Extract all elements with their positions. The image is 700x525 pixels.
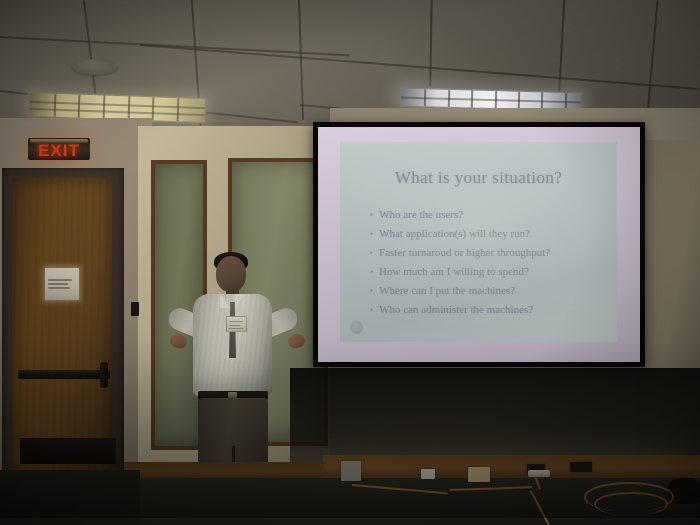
slide-logo-icon bbox=[350, 321, 363, 334]
presenter-head bbox=[216, 256, 246, 292]
exit-sign-hood bbox=[30, 139, 88, 143]
slide-bullet: Who can administer the machines? bbox=[370, 305, 607, 316]
slide-title: What is your situation? bbox=[340, 168, 617, 188]
door-frame bbox=[2, 168, 124, 480]
presenter-hand-left bbox=[168, 332, 188, 351]
door[interactable] bbox=[12, 178, 112, 476]
presenter-collar-left bbox=[220, 294, 230, 308]
power-strip[interactable] bbox=[528, 470, 550, 477]
door-wood-grain bbox=[12, 178, 112, 476]
slide-bullet: Who are the users? bbox=[370, 210, 607, 221]
under-screen-shadow bbox=[290, 368, 700, 468]
conference-room-photo: EXIT What is your situation? Who are the… bbox=[0, 0, 700, 525]
cord-loop-2 bbox=[594, 492, 668, 516]
wall-plate-blank bbox=[468, 467, 490, 482]
wall-outlet-1[interactable] bbox=[421, 469, 435, 479]
light-switch[interactable] bbox=[131, 302, 139, 316]
smoke-detector bbox=[72, 59, 118, 75]
slide-bullet: What application(s) will they run? bbox=[370, 229, 607, 240]
slide-bullet-list: Who are the users? What application(s) w… bbox=[370, 210, 607, 324]
floor-carpet-left bbox=[0, 470, 140, 525]
door-kick-plate bbox=[20, 438, 116, 464]
door-push-bar[interactable] bbox=[18, 370, 110, 379]
wall-data-port[interactable] bbox=[570, 462, 592, 472]
slide-bullet: Faster turnaroud or higher throughput? bbox=[370, 248, 607, 259]
projected-slide: What is your situation? Who are the user… bbox=[340, 142, 617, 342]
door-handle[interactable] bbox=[100, 362, 108, 388]
exit-sign-label: EXIT bbox=[38, 142, 80, 159]
presenter-collar-right bbox=[235, 294, 245, 308]
door-notice-sign bbox=[45, 268, 79, 300]
exit-sign: EXIT bbox=[28, 138, 90, 160]
presenter-hand-right bbox=[286, 332, 306, 351]
slide-bullet: How much am I willing to spend? bbox=[370, 267, 607, 278]
wall-plate-panel[interactable] bbox=[341, 461, 361, 481]
slide-bullet: Where can I put the machines? bbox=[370, 286, 607, 297]
presenter-name-badge bbox=[226, 316, 247, 332]
projection-screen: What is your situation? Who are the user… bbox=[313, 122, 645, 367]
